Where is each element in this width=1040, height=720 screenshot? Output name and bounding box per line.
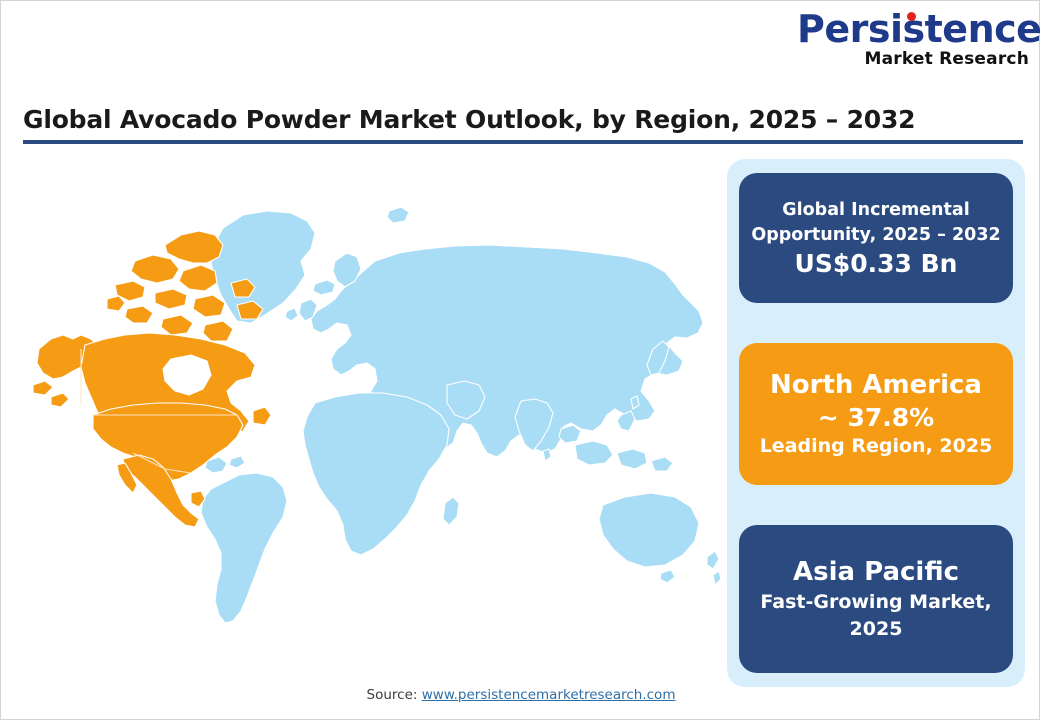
map-region-rest-of-world <box>201 207 721 623</box>
source-note: Source: www.persistencemarketresearch.co… <box>1 687 1040 703</box>
card-incremental-value: US$0.33 Bn <box>795 248 958 279</box>
card-fast-growing-caption: Fast-Growing Market, 2025 <box>751 589 1001 643</box>
card-leading-region-caption: Leading Region, 2025 <box>760 433 993 460</box>
card-incremental-line1: Global Incremental <box>782 198 969 223</box>
infographic-page: Persistence Market Research Global Avoca… <box>0 0 1040 720</box>
source-label: Source: <box>367 687 422 703</box>
world-map <box>15 153 721 673</box>
card-incremental-line2: Opportunity, 2025 – 2032 <box>751 223 1000 248</box>
card-fast-growing-region-name: Asia Pacific <box>793 555 959 589</box>
card-leading-region[interactable]: North America ~ 37.8% Leading Region, 20… <box>739 343 1013 485</box>
page-title: Global Avocado Powder Market Outlook, by… <box>23 105 1023 135</box>
logo-red-dot-icon <box>907 12 916 21</box>
logo-tagline: Market Research <box>797 49 1029 69</box>
card-leading-region-name: North America <box>770 368 982 402</box>
card-leading-region-share: ~ 37.8% <box>818 402 934 433</box>
stats-panel: Global Incremental Opportunity, 2025 – 2… <box>727 159 1025 687</box>
title-block: Global Avocado Powder Market Outlook, by… <box>23 105 1023 144</box>
source-link[interactable]: www.persistencemarketresearch.com <box>422 687 676 703</box>
title-divider <box>23 140 1023 144</box>
card-incremental-opportunity[interactable]: Global Incremental Opportunity, 2025 – 2… <box>739 173 1013 303</box>
brand-logo: Persistence Market Research <box>797 9 1029 69</box>
card-fast-growing-market[interactable]: Asia Pacific Fast-Growing Market, 2025 <box>739 525 1013 673</box>
world-map-svg <box>15 153 721 673</box>
